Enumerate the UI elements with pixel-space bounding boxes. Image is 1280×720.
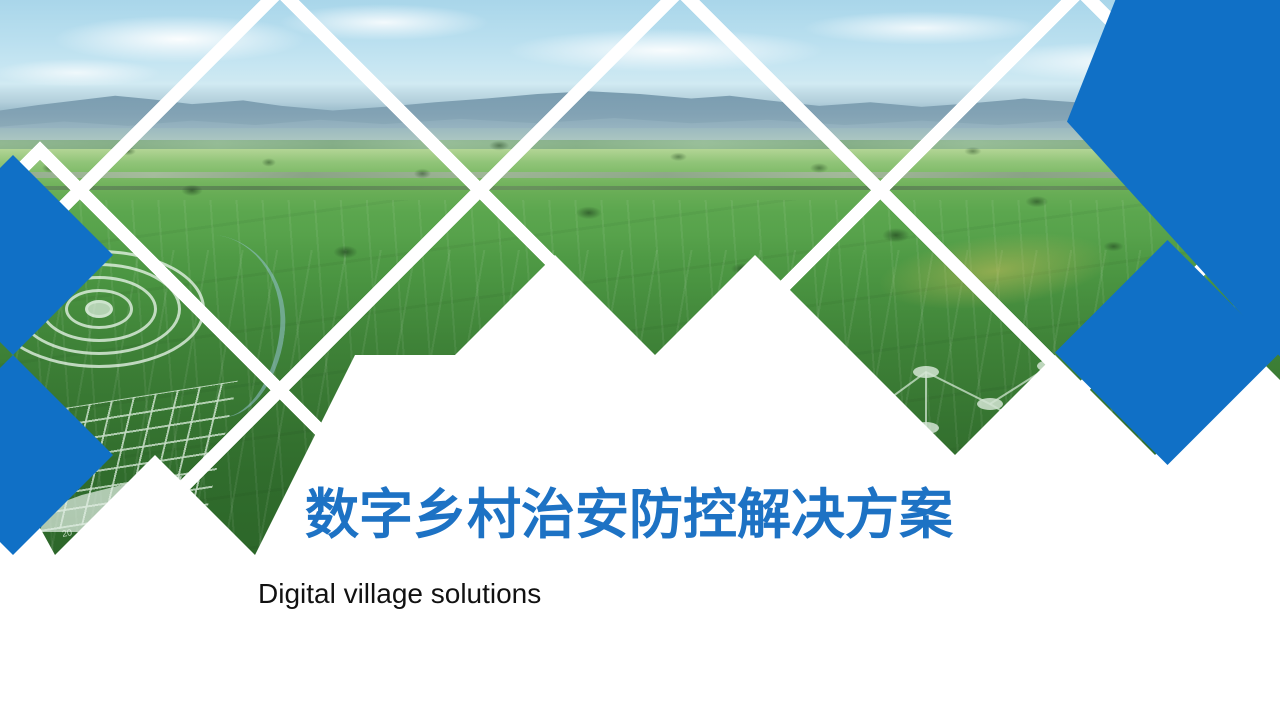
slide-title: 数字乡村治安防控解决方案 xyxy=(305,487,953,544)
grid-axis-label-20: 20 xyxy=(61,527,73,539)
title-slide: 70 60 50 40 30 20 xyxy=(0,0,1280,720)
slide-subtitle: Digital village solutions xyxy=(258,577,541,611)
hero-banner: 70 60 50 40 30 20 xyxy=(0,0,1280,560)
sensor-network-icon xyxy=(690,320,1120,460)
